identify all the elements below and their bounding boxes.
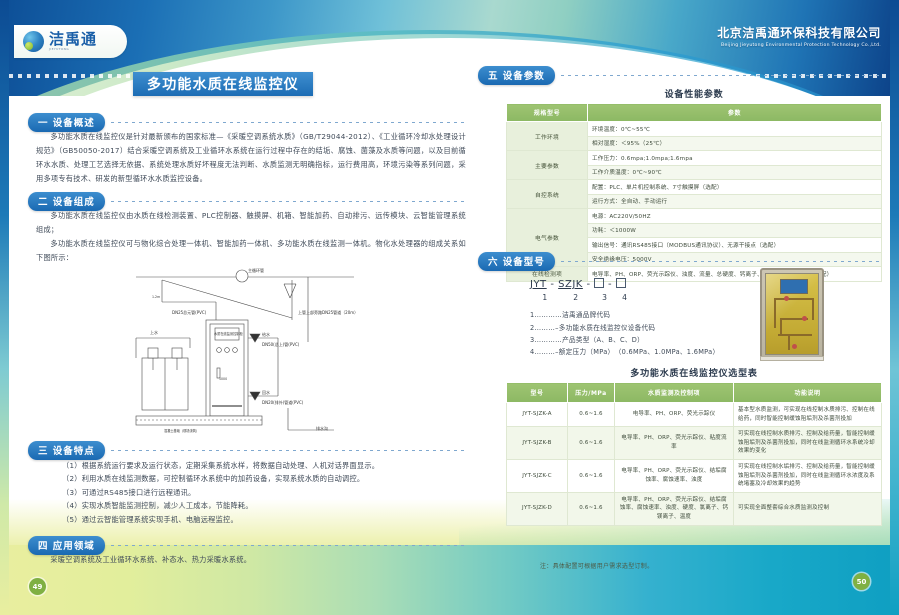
right-edge-band [890,0,899,615]
section-4-body: 采暖空调系统及工业循环水系统、补态水、热力采暖水系统。 [36,553,466,567]
product-pipe [778,334,812,336]
model-legend-item: 2………–多功能水质在线监控仪设备代码 [530,322,719,334]
page-number-right: 50 [853,573,870,590]
page-number-left: 49 [29,578,46,595]
brochure-page: 洁禹通 JIEYUTONG 北京洁禹通环保科技有限公司 Beijing Jiey… [0,0,899,615]
product-valve-knob [784,296,789,301]
sel-desc: 可实现在线控制水质排污、控制及给药量，智能控制缓蚀阻垢剂及杀菌剂投加，同时在线监… [734,427,882,460]
param-value: 输出信号：通讯RS485接口（MODBUS通讯协议）、无源干接点（选配） [588,238,882,253]
section-3-feature-list: （1）根据系统运行要求及运行状态，定期采集系统水样，将数据自动处理、人机对话界面… [36,459,466,526]
param-value: 电源：AC220V/50HZ [588,209,882,224]
param-value: 配置：PLC、单片机控制系统、7寸触摸屏（选配） [588,180,882,195]
section-6-dots [561,261,883,262]
list-item: （1）根据系统运行要求及运行状态，定期采集系统水样，将数据自动处理、人机对话界面… [36,459,466,472]
sel-items: 电导率、PH、ORP、荧光示踪仪、粘度流率 [615,427,734,460]
selection-table-title: 多功能水质在线监控仪选型表 [506,366,882,379]
product-cabinet-glass [765,273,819,355]
sel-header-items: 水质监测及控制项 [615,383,734,403]
list-item: （2）利用水质在线监测数据，可控制循环水系统中的加药设备，实现系统水质的自动调控… [36,472,466,485]
section-6-label: 六 设备型号 [478,252,555,271]
sel-pressure: 0.6~1.6 [568,403,615,427]
product-pipe [774,298,814,300]
sel-pressure: 0.6~1.6 [568,492,615,525]
sel-header-model: 型号 [507,383,568,403]
sel-pressure: 0.6~1.6 [568,459,615,492]
model-code-slot-4 [616,278,626,288]
table-row: JYT-SJZK-C 0.6~1.6 电导率、PH、ORP、荧光示踪仪、结垢腐蚀… [507,459,882,492]
sel-pressure: 0.6~1.6 [568,427,615,460]
diagram-label-drain: 回水 [262,389,270,395]
section-5-label: 五 设备参数 [478,66,555,85]
company-logo: 洁禹通 JIEYUTONG [14,25,127,58]
sel-items: 电导率、PH、ORP、荧光示踪仪 [615,403,734,427]
product-valve-knob [802,316,807,321]
company-name-cn: 北京洁禹通环保科技有限公司 [717,24,881,41]
sel-items: 电导率、PH、ORP、荧光示踪仪、结垢腐蚀率、腐蚀速率、浊度 [615,459,734,492]
sel-model: JYT-SJZK-D [507,492,568,525]
table-header-row: 型号 压力/MPa 水质监测及控制项 功能说明 [507,383,882,403]
section-4-dots [111,545,468,546]
model-code-slot-3 [594,278,604,288]
section-2-dots [111,201,468,202]
param-value: 相对湿度：＜95%（25℃） [588,136,882,151]
page-title: 多功能水质在线监控仪 [133,72,313,96]
param-value: 环境温度：0℃~55℃ [588,122,882,137]
product-pipe [788,336,790,350]
diagram-label-drain-pit: 排水沟 [316,425,328,431]
model-index-2: 2 [559,292,593,304]
product-valve-knob [792,344,797,349]
model-selection-table: 型号 压力/MPa 水质监测及控制项 功能说明 JYT-SJZK-A 0.6~1… [506,382,882,526]
model-code: JYT - SZJK - - [530,278,719,291]
section-3-label: 三 设备特点 [28,441,105,460]
product-photo [760,268,824,360]
schematic-svg: 主循环管 DN25总元管(PVC) 上管上部旁路DN25管道（20m） 上水 水… [120,258,370,433]
model-code-explanation: JYT - SZJK - - 1 2 3 4 1…………洁禹通品牌代码 2………… [530,278,719,358]
model-legend-item: 1…………洁禹通品牌代码 [530,309,719,321]
param-category: 主要参数 [507,151,588,180]
model-index-3: 3 [596,292,614,304]
section-3-dots [111,450,468,451]
list-item: （5）通过云智能管理系统实现手机、电脑远程监控。 [36,513,466,526]
section-heading-3: 三 设备特点 [28,441,468,460]
section-2-paragraph-1: 多功能水质在线监控仪由水质在线检测装置、PLC控制器、触摸屏、机箱、智能加药、自… [36,209,466,237]
diagram-label-h1: 1.2m [152,295,160,299]
diagram-label-drain-pipe: DN20(排外)管道(PVC) [262,399,304,405]
product-pipe [774,298,776,328]
diagram-label-main-pipe: 主循环管 [248,267,264,273]
section-heading-5: 五 设备参数 [478,66,883,85]
diagram-label-base: 混凝土基础（现场浇筑） [164,428,199,433]
diagram-label-water-in: 上水 [150,329,158,335]
selection-table-note: 注：具体配置可根据用户需求选型订制。 [540,561,653,570]
product-pipe [812,298,814,320]
diagram-label-dn25: DN25总元管(PVC) [172,309,207,315]
section-4-paragraph: 采暖空调系统及工业循环水系统、补态水、热力采暖水系统。 [36,553,466,567]
param-value: 运行方式：全自动、手动运行 [588,194,882,209]
param-category: 自控系统 [507,180,588,209]
sel-desc: 可实现在线控制水垢排污、控制及给药量，智能控制缓蚀阻垢剂及杀菌剂投加，同时在线监… [734,459,882,492]
sel-header-pressure: 压力/MPa [568,383,615,403]
diagram-label-supply-pipe: DN50(总上)管(PVC) [262,341,300,347]
model-index-1: 1 [534,292,556,304]
diagram-label-h2: 1000 [219,377,227,381]
model-legend-item: 3…………产品类型（A、B、C、D） [530,334,719,346]
left-edge-band [0,0,9,615]
sel-items: 电导率、PH、ORP、荧光示踪仪、结垢腐蚀率、腐蚀速率、浊度、硬度、氯离子、钙镁… [615,492,734,525]
table-row: JYT-SJZK-B 0.6~1.6 电导率、PH、ORP、荧光示踪仪、粘度流率… [507,427,882,460]
model-code-part-2: SZJK [558,279,583,290]
table-row: 自控系统 配置：PLC、单片机控制系统、7寸触摸屏（选配） [507,180,882,195]
table-row: 电气参数 电源：AC220V/50HZ [507,209,882,224]
section-1-body: 多功能水质在线监控仪是针对最新颁布的国家标准—《采暖空调系统水质》（GB/T29… [36,130,466,186]
model-code-indices: 1 2 3 4 [534,292,719,304]
section-2-body: 多功能水质在线监控仪由水质在线检测装置、PLC控制器、触摸屏、机箱、智能加药、自… [36,209,466,265]
model-legend-item: 4………–额定压力（MPa） （0.6MPa、1.0MPa、1.6MPa） [530,346,719,358]
table-row: JYT-SJZK-D 0.6~1.6 电导率、PH、ORP、荧光示踪仪、结垢腐蚀… [507,492,882,525]
model-index-4: 4 [617,292,633,304]
sel-model: JYT-SJZK-A [507,403,568,427]
table-header-row: 规格型号 参数 [507,104,882,122]
diagram-label-cabinet: 水质在线监测控制柜 [214,331,243,336]
diagram-label-supply: 给水 [262,331,270,337]
sel-model: JYT-SJZK-C [507,459,568,492]
section-1-dots [111,122,468,123]
param-header-spec: 规格型号 [507,104,588,122]
param-value: 功耗：＜1000W [588,223,882,238]
diagram-label-upper-valve: 上管上部旁路DN25管道（20m） [298,309,358,315]
sel-model: JYT-SJZK-B [507,427,568,460]
table-row: 工作环境 环境温度：0℃~55℃ [507,122,882,137]
company-name-block: 北京洁禹通环保科技有限公司 Beijing Jieyutong Environm… [717,24,881,48]
list-item: （3）可通过RS485接口进行远程通讯。 [36,486,466,499]
system-schematic-diagram: 主循环管 DN25总元管(PVC) 上管上部旁路DN25管道（20m） 上水 水… [120,258,370,433]
param-value: 工作介质温度：0℃~90℃ [588,165,882,180]
param-table-title: 设备性能参数 [506,87,882,100]
logo-text: 洁禹通 [49,32,97,47]
sel-desc: 基本型水质监测，可实现在线控制水质排污、控制在线给药，同时智能控制缓蚀阻垢剂及杀… [734,403,882,427]
product-display-screen [780,279,808,294]
table-row: JYT-SJZK-A 0.6~1.6 电导率、PH、ORP、荧光示踪仪 基本型水… [507,403,882,427]
table-row: 主要参数 工作压力：0.6mpa;1.0mpa;1.6mpa [507,151,882,166]
product-photo-base [760,356,824,361]
sel-desc: 可实现全面整套综合水质监测及控制 [734,492,882,525]
param-value: 工作压力：0.6mpa;1.0mpa;1.6mpa [588,151,882,166]
sel-header-desc: 功能说明 [734,383,882,403]
section-5-dots [561,75,883,76]
logo-droplet-icon [23,31,44,52]
param-category: 工作环境 [507,122,588,151]
list-item: （4）实现水质智能监测控制，减少人工成本，节能降耗。 [36,499,466,512]
company-name-en: Beijing Jieyutong Environmental Protecti… [717,43,881,48]
param-header-value: 参数 [588,104,882,122]
section-1-paragraph: 多功能水质在线监控仪是针对最新颁布的国家标准—《采暖空调系统水质》（GB/T29… [36,130,466,186]
model-code-part-1: JYT [530,279,547,290]
